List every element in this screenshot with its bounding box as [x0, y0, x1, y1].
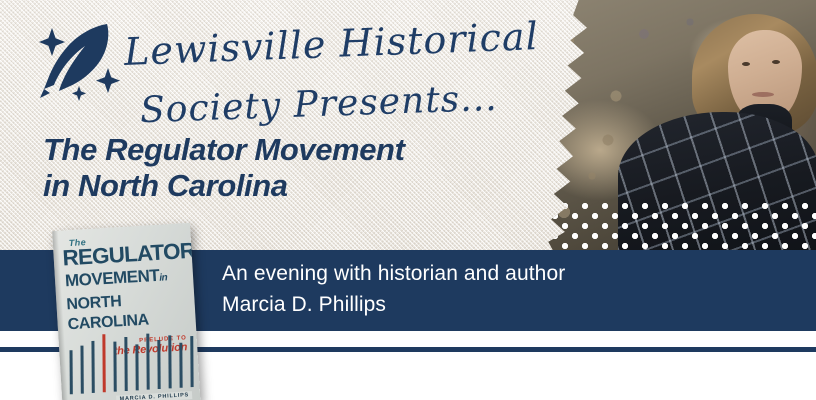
event-title-headline: The Regulator Movement in North Carolina	[43, 132, 405, 204]
book-cover-bar-graphic	[66, 327, 193, 394]
book-cover: The REGULATOR MOVEMENTin NORTH CAROLINA …	[52, 223, 200, 400]
book-bar	[190, 336, 193, 387]
portrait-eye-right	[772, 60, 780, 64]
book-bar	[70, 350, 73, 394]
author-portrait-photo	[540, 0, 816, 252]
quill-feather-icon	[24, 16, 128, 108]
portrait-mouth	[752, 92, 774, 97]
book-bar	[80, 346, 83, 394]
event-banner: Lewisville Historical Society Presents..…	[0, 0, 816, 400]
evening-description-text: An evening with historian and author Mar…	[222, 258, 565, 320]
book-bar	[157, 340, 160, 389]
book-bar	[146, 334, 149, 390]
book-title-in: in	[159, 272, 168, 283]
book-bar	[124, 337, 127, 391]
book-bar	[91, 341, 94, 393]
polka-dot-overlay	[540, 200, 816, 252]
book-bar	[179, 343, 182, 388]
book-author-name: MARCIA D. PHILLIPS	[116, 391, 192, 400]
book-bar	[113, 342, 116, 392]
portrait-eye-left	[742, 62, 750, 66]
book-bar	[168, 335, 171, 388]
book-bar-red	[102, 334, 105, 392]
book-bar	[135, 344, 138, 390]
